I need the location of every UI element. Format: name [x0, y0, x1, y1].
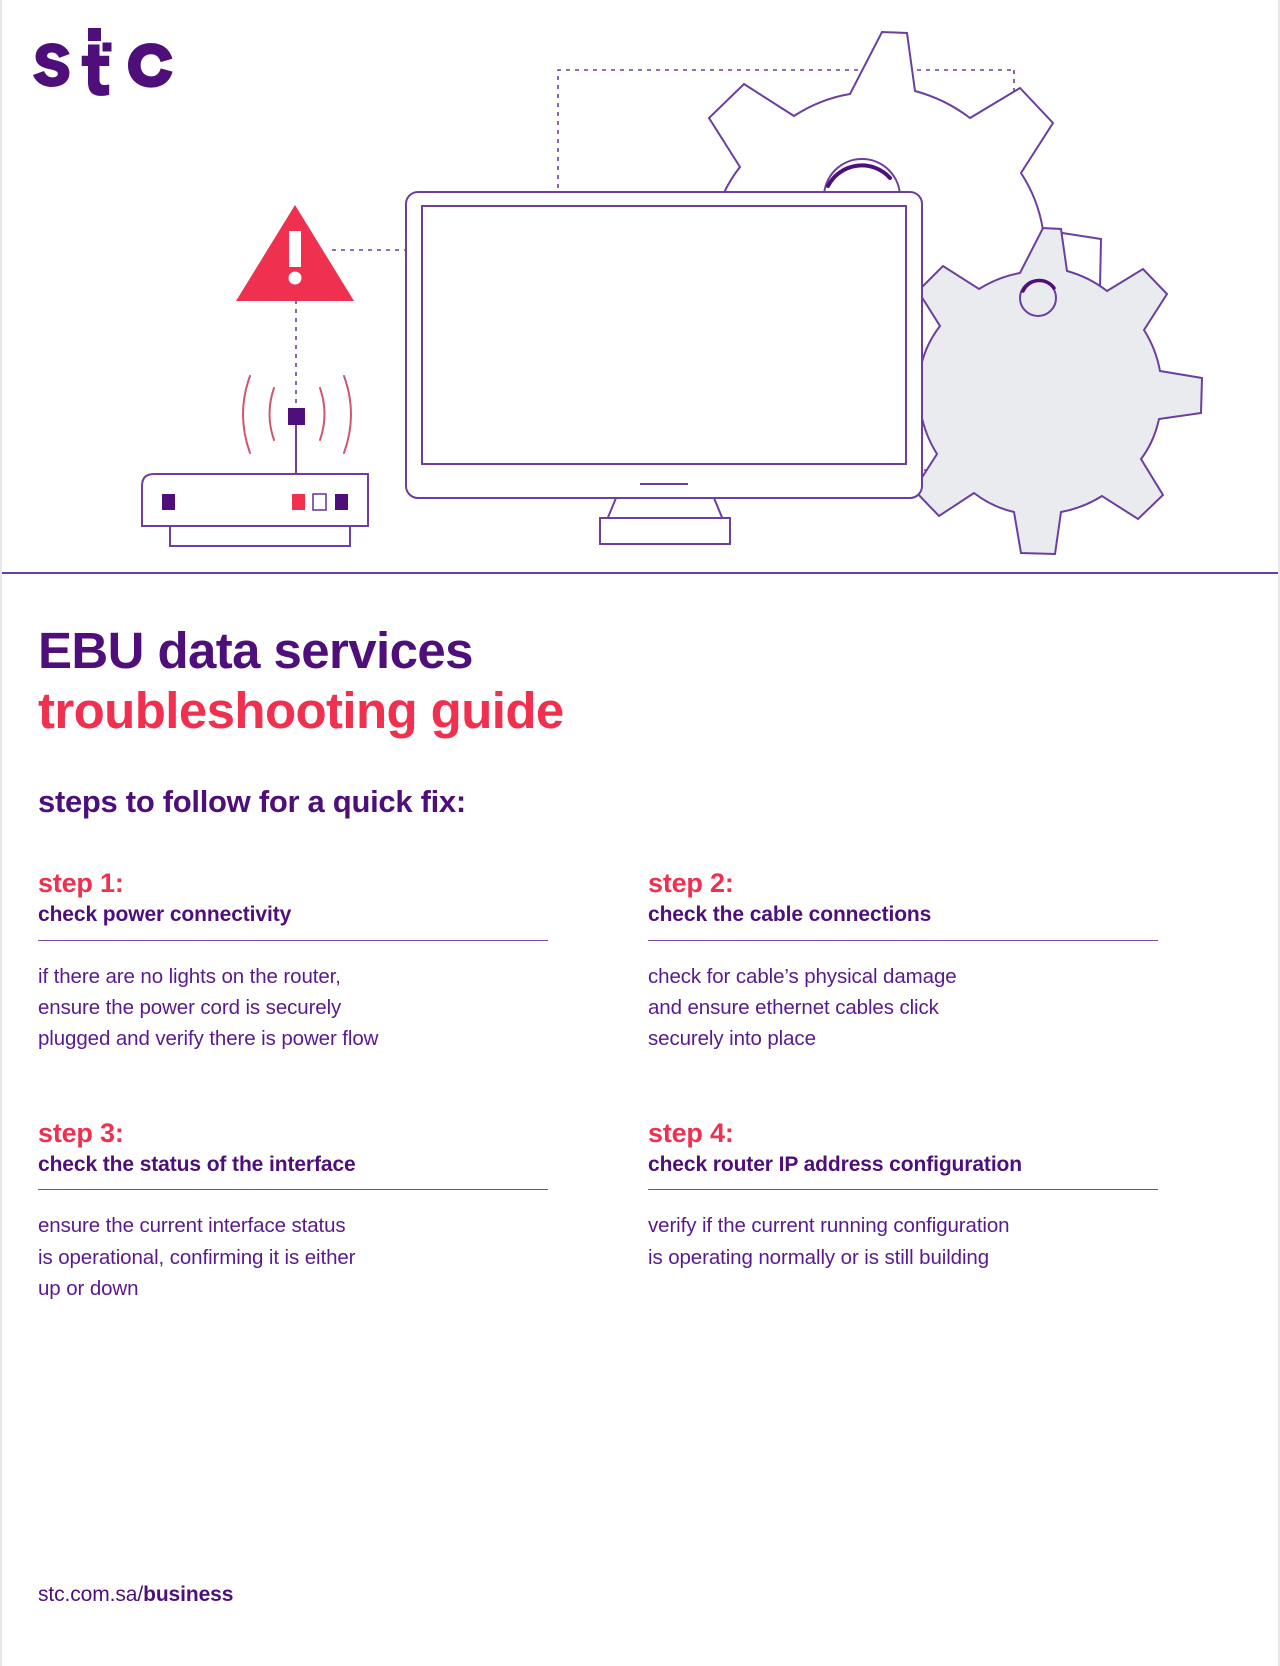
step-card-4: step 4: check router IP address configur… [648, 1118, 1242, 1304]
step-card-3: step 3: check the status of the interfac… [38, 1118, 648, 1304]
step-card-1: step 1: check power connectivity if ther… [38, 868, 648, 1054]
footer-url-bold: business [143, 1583, 233, 1606]
footer-url[interactable]: stc.com.sa/business [38, 1583, 233, 1607]
step-heading-3: check the status of the interface [38, 1151, 648, 1178]
step-body-2: check for cable’s physical damage and en… [648, 961, 1242, 1054]
step-body-1: if there are no lights on the router, en… [38, 961, 648, 1054]
warning-triangle-icon [236, 205, 354, 301]
title-line-1: EBU data services [38, 621, 1242, 681]
step-divider-4 [648, 1189, 1158, 1190]
step-number-4: step 4: [648, 1118, 1242, 1149]
page-subtitle: steps to follow for a quick fix: [38, 740, 1242, 820]
step-divider-3 [38, 1189, 548, 1190]
stc-logo [32, 25, 202, 105]
step-body-4: verify if the current running configurat… [648, 1210, 1242, 1272]
footer-url-base: stc.com.sa/ [38, 1583, 143, 1606]
step-body-3: ensure the current interface status is o… [38, 1210, 648, 1303]
steps-grid: step 1: check power connectivity if ther… [38, 868, 1242, 1304]
step-divider-1 [38, 940, 548, 941]
step-heading-2: check the cable connections [648, 901, 1242, 928]
monitor-icon [406, 192, 922, 544]
step-heading-1: check power connectivity [38, 901, 648, 928]
step-card-2: step 2: check the cable connections chec… [648, 868, 1242, 1054]
content-section: EBU data services troubleshooting guide … [2, 574, 1278, 1304]
step-divider-2 [648, 940, 1158, 941]
step-number-2: step 2: [648, 868, 1242, 899]
router-icon [142, 474, 368, 546]
page-title: EBU data services troubleshooting guide [38, 574, 1242, 740]
step-number-1: step 1: [38, 868, 648, 899]
infographic-page: .ln{fill:none;stroke:#6b3fa0;stroke-widt… [2, 0, 1278, 1666]
title-line-2: troubleshooting guide [38, 681, 1242, 741]
step-number-3: step 3: [38, 1118, 648, 1149]
step-heading-4: check router IP address configuration [648, 1151, 1242, 1178]
